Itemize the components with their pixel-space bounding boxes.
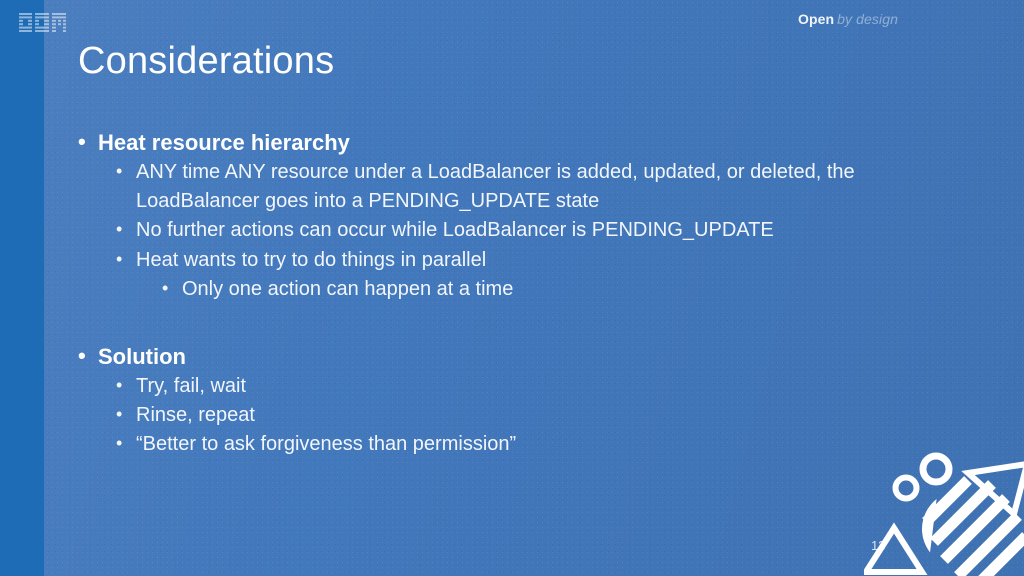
section-heat-resource-hierarchy: Heat resource hierarchy ANY time ANY res… (78, 130, 978, 304)
section-heading: Heat resource hierarchy (78, 130, 978, 156)
page-number: 13 (871, 538, 885, 553)
tagline-italic: by design (837, 11, 898, 27)
bullet-item: “Better to ask forgiveness than permissi… (116, 430, 978, 459)
section-solution: Solution Try, fail, wait Rinse, repeat “… (78, 344, 978, 460)
bullet-item: Only one action can happen at a time (162, 275, 978, 304)
bullet-item: ANY time ANY resource under a LoadBalanc… (116, 158, 978, 216)
bullet-item: Try, fail, wait (116, 372, 978, 401)
bullet-item: Heat wants to try to do things in parall… (116, 246, 978, 275)
left-accent-band (0, 0, 44, 576)
page-title: Considerations (78, 42, 334, 82)
tagline-strong: Open (798, 11, 834, 27)
bullet-item: No further actions can occur while LoadB… (116, 216, 978, 245)
slide-canvas: Openby design Considerations Heat resour… (0, 0, 1024, 576)
tagline: Openby design (798, 11, 898, 27)
bullet-item: Rinse, repeat (116, 401, 978, 430)
ibm-logo (19, 13, 66, 32)
section-heading: Solution (78, 344, 978, 370)
section-spacer (78, 304, 978, 344)
slide-body: Heat resource hierarchy ANY time ANY res… (78, 130, 978, 459)
